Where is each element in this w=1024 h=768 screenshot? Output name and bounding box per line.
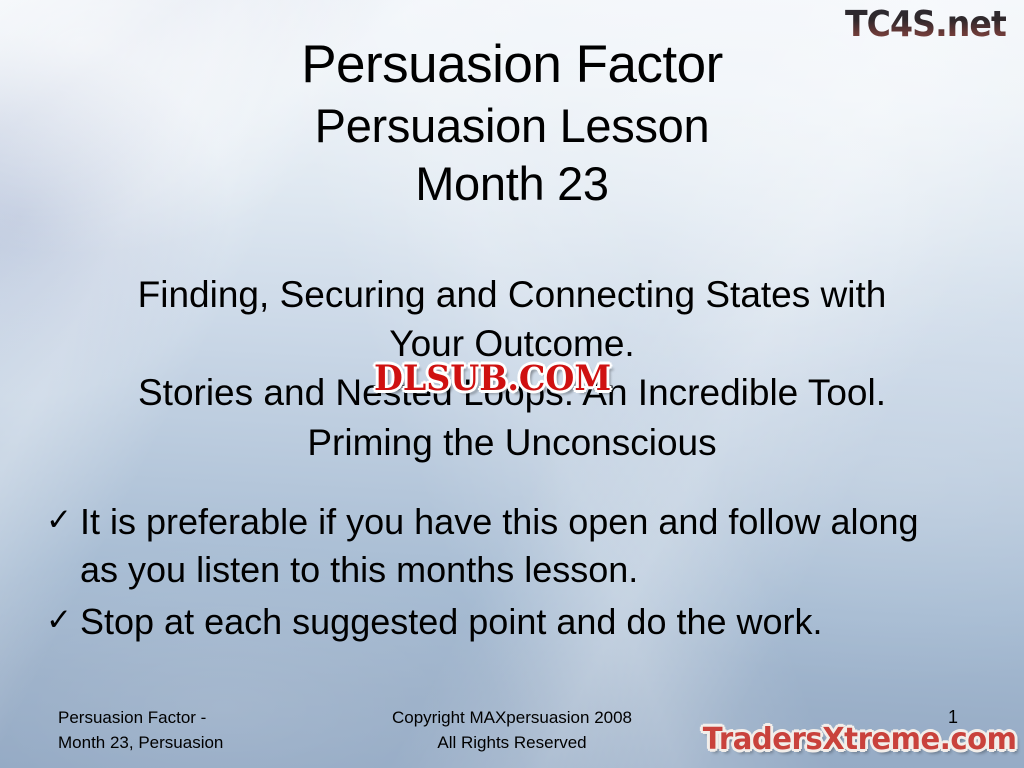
list-item-text: It is preferable if you have this open a… [80, 498, 964, 594]
tradersxtreme-logo: TradersXtreme.com [702, 722, 1016, 757]
bullet-list: ✓ It is preferable if you have this open… [46, 498, 964, 650]
tc4s-logo: TC4S.net [845, 4, 1006, 45]
list-item-text: Stop at each suggested point and do the … [80, 598, 964, 646]
title-line-2: Persuasion Lesson [0, 102, 1024, 149]
title-line-3: Month 23 [0, 160, 1024, 207]
list-item: ✓ It is preferable if you have this open… [46, 498, 964, 594]
subtitle-line-1: Finding, Securing and Connecting States … [48, 270, 976, 319]
title-line-1: Persuasion Factor [0, 38, 1024, 91]
dlsub-watermark: DLSUB.COM [374, 358, 611, 399]
subtitle-line-4: Priming the Unconscious [48, 418, 976, 467]
checkmark-icon: ✓ [46, 598, 80, 642]
list-item: ✓ Stop at each suggested point and do th… [46, 598, 964, 646]
slide-title: Persuasion Factor Persuasion Lesson Mont… [0, 38, 1024, 207]
checkmark-icon: ✓ [46, 498, 80, 542]
presentation-slide: Persuasion Factor Persuasion Lesson Mont… [0, 0, 1024, 768]
